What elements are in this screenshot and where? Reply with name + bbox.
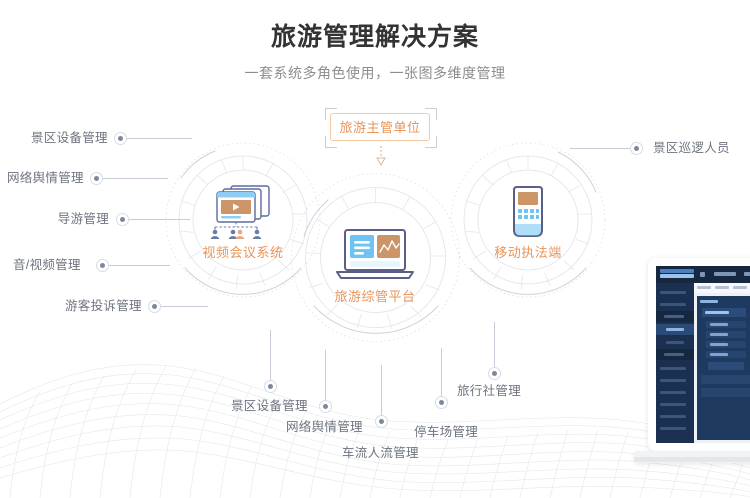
right-label-1: 景区巡逻人员	[653, 141, 730, 155]
bottom-label-3: 车流人流管理	[342, 446, 419, 460]
dashboard-nav-item-1[interactable]	[714, 272, 736, 276]
corner-bracket-top-left	[325, 108, 337, 120]
page-header: 旅游管理解决方案 一套系统多角色使用，一张图多维度管理	[0, 22, 750, 82]
sidebar-row-1[interactable]	[660, 291, 686, 294]
filter-chip-3[interactable]	[733, 286, 747, 289]
tree-node-1-label	[705, 311, 729, 314]
tree-row-7[interactable]	[701, 375, 750, 384]
left-label-4: 音/视频管理	[13, 258, 81, 272]
sidebar-row-3[interactable]	[664, 315, 684, 318]
bottom-label-2: 网络舆情管理	[286, 420, 363, 434]
connector-dot-left-1	[114, 132, 127, 145]
connector-dot-bottom-4	[435, 396, 448, 409]
mobile-device-icon	[506, 186, 550, 244]
connector-line-bottom-4	[441, 348, 442, 396]
tree-node-6[interactable]	[708, 362, 744, 370]
connector-dot-left-2	[90, 172, 103, 185]
sidebar-row-10[interactable]	[660, 403, 686, 406]
connector-dot-bottom-1	[264, 380, 277, 393]
connector-line-left-2	[102, 178, 168, 179]
sidebar-row-7[interactable]	[660, 367, 686, 370]
node-label-mobile-enforcement: 移动执法端	[448, 242, 608, 261]
dashboard-sidebar	[656, 283, 694, 443]
connector-line-bottom-2	[325, 350, 326, 400]
left-label-5: 游客投诉管理	[65, 299, 142, 313]
laptop-dashboard-icon	[333, 228, 417, 282]
dashboard-screen[interactable]	[656, 266, 750, 443]
dashboard-logo	[660, 269, 694, 273]
corner-bracket-bottom-right	[425, 136, 437, 148]
sidebar-row-8[interactable]	[660, 379, 686, 382]
sidebar-row-6[interactable]	[664, 353, 684, 356]
connector-line-right-1	[570, 148, 630, 149]
tree-node-5-label	[710, 353, 728, 356]
sidebar-row-2[interactable]	[660, 303, 686, 306]
video-conference-icon	[203, 184, 283, 240]
sidebar-row-4-label	[666, 328, 684, 331]
dashboard-logo-sub	[660, 274, 694, 278]
laptop-bezel	[648, 258, 750, 451]
connector-dot-bottom-3	[375, 415, 388, 428]
connector-line-bottom-1	[270, 330, 271, 380]
connector-dot-left-4	[96, 259, 109, 272]
connector-line-left-1	[126, 138, 192, 139]
corner-bracket-top-right	[425, 108, 437, 120]
corner-bracket-bottom-left	[325, 136, 337, 148]
sidebar-row-5[interactable]	[666, 341, 684, 344]
tree-node-4-label	[710, 343, 728, 346]
solution-diagram-page: 旅游管理解决方案 一套系统多角色使用，一张图多维度管理 旅游主管单位	[0, 0, 750, 498]
bottom-label-4: 停车场管理	[414, 425, 478, 439]
sidebar-row-12[interactable]	[660, 427, 686, 430]
connector-dot-bottom-2	[319, 400, 332, 413]
laptop-base-lip	[634, 457, 750, 462]
dashboard-menu-icon[interactable]	[700, 272, 705, 277]
node-label-platform: 旅游综管平台	[295, 286, 455, 305]
connector-line-left-5	[160, 306, 208, 307]
filter-chip-1[interactable]	[697, 286, 711, 289]
connector-line-bottom-5	[494, 322, 495, 367]
dotted-arrow-down-icon	[374, 146, 388, 166]
dashboard-nav-item-2[interactable]	[744, 272, 750, 276]
left-label-2: 网络舆情管理	[7, 171, 84, 185]
connector-dot-bottom-5	[488, 367, 501, 380]
left-label-1: 景区设备管理	[31, 131, 108, 145]
page-title: 旅游管理解决方案	[0, 22, 750, 52]
page-subtitle: 一套系统多角色使用，一张图多维度管理	[0, 64, 750, 82]
tree-node-3-label	[710, 333, 728, 336]
connector-dot-right-1	[630, 142, 643, 155]
left-label-3: 导游管理	[33, 212, 109, 226]
connector-dot-left-3	[116, 213, 129, 226]
connector-line-left-3	[128, 219, 190, 220]
tree-node-2-label	[710, 323, 728, 326]
authority-badge[interactable]: 旅游主管单位	[330, 113, 430, 141]
filter-chip-2[interactable]	[715, 286, 729, 289]
bottom-label-5: 旅行社管理	[457, 384, 521, 398]
authority-badge-wrapper: 旅游主管单位	[330, 113, 432, 143]
sidebar-row-9[interactable]	[660, 391, 686, 394]
tree-title	[700, 300, 718, 303]
dashboard-content	[694, 283, 750, 443]
connector-line-bottom-3	[381, 365, 382, 415]
connector-line-left-4	[108, 265, 170, 266]
node-label-video-conference: 视频会议系统	[163, 242, 323, 261]
connector-dot-left-5	[148, 300, 161, 313]
sidebar-row-11[interactable]	[660, 415, 686, 418]
tree-row-8[interactable]	[701, 388, 750, 397]
bottom-label-1: 景区设备管理	[231, 399, 308, 413]
